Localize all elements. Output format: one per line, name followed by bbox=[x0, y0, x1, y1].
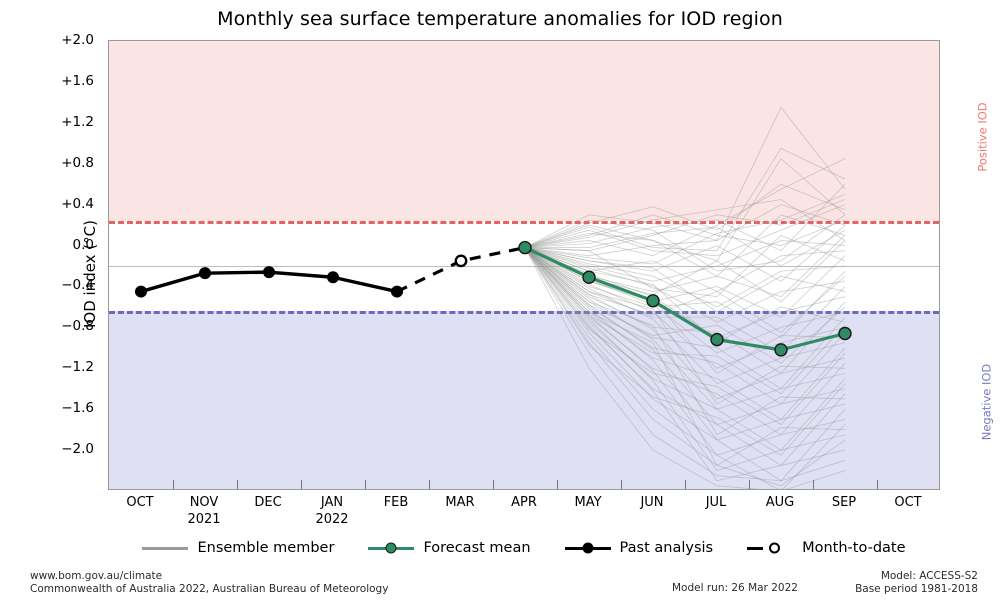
y-tick-label: +1.2 bbox=[61, 114, 94, 130]
past-analysis-marker bbox=[135, 286, 147, 298]
y-axis-title: IOD index (°C) bbox=[81, 174, 99, 374]
legend-marker bbox=[582, 543, 593, 554]
y-tick-mark bbox=[108, 368, 109, 369]
past-analysis-marker bbox=[263, 266, 275, 278]
positive-iod-label: Positive IOD bbox=[976, 102, 990, 171]
y-tick-mark bbox=[108, 123, 109, 124]
footer-copyright: Commonwealth of Australia 2022, Australi… bbox=[30, 583, 388, 596]
x-tick-label: JAN2022 bbox=[315, 494, 348, 528]
x-tick-mark bbox=[877, 480, 878, 489]
legend-swatch bbox=[747, 541, 793, 555]
y-tick-mark bbox=[108, 409, 109, 410]
x-tick-mark bbox=[365, 480, 366, 489]
chart-legend: Ensemble memberForecast meanPast analysi… bbox=[108, 534, 940, 562]
forecast-mean-marker bbox=[519, 242, 531, 254]
y-tick-mark bbox=[108, 450, 109, 451]
legend-item[interactable]: Past analysis bbox=[565, 540, 714, 556]
series-canvas bbox=[109, 41, 940, 490]
x-tick-label: JUN bbox=[640, 494, 663, 511]
x-tick-mark bbox=[173, 480, 174, 489]
forecast-mean-marker bbox=[647, 295, 659, 307]
x-tick-mark bbox=[301, 480, 302, 489]
legend-item[interactable]: Month-to-date bbox=[747, 540, 905, 556]
legend-label: Ensemble member bbox=[197, 540, 334, 556]
x-tick-label: SEP bbox=[832, 494, 856, 511]
footer-model: Model: ACCESS-S2 bbox=[855, 570, 978, 583]
plot-area bbox=[108, 40, 940, 490]
y-tick-label: +2.0 bbox=[61, 32, 94, 48]
legend-swatch bbox=[565, 541, 611, 555]
past-analysis-marker bbox=[327, 271, 339, 283]
legend-item[interactable]: Ensemble member bbox=[142, 540, 334, 556]
x-tick-mark bbox=[813, 480, 814, 489]
y-tick-mark bbox=[108, 246, 109, 247]
x-tick-label: APR bbox=[511, 494, 537, 511]
footer-model-run: Model run: 26 Mar 2022 bbox=[672, 582, 798, 595]
x-tick-label: OCT bbox=[894, 494, 921, 511]
past-analysis-marker bbox=[199, 267, 211, 279]
y-tick-mark bbox=[108, 286, 109, 287]
x-tick-mark bbox=[621, 480, 622, 489]
y-tick-label: +0.8 bbox=[61, 155, 94, 171]
x-tick-label: DEC bbox=[254, 494, 281, 511]
x-tick-label: AUG bbox=[766, 494, 794, 511]
past-analysis-marker bbox=[391, 286, 403, 298]
legend-line bbox=[142, 547, 188, 550]
forecast-mean-marker bbox=[711, 334, 723, 346]
y-tick-mark bbox=[108, 327, 109, 328]
forecast-mean-marker bbox=[583, 271, 595, 283]
y-tick-label: −2.0 bbox=[61, 441, 94, 457]
legend-label: Forecast mean bbox=[423, 540, 530, 556]
x-tick-label: NOV2021 bbox=[187, 494, 220, 528]
forecast-mean-marker bbox=[775, 344, 787, 356]
x-tick-mark bbox=[493, 480, 494, 489]
x-tick-mark bbox=[685, 480, 686, 489]
x-tick-mark bbox=[237, 480, 238, 489]
x-axis-labels: OCTNOV2021DECJAN2022FEBMARAPRMAYJUNJULAU… bbox=[108, 494, 940, 538]
negative-iod-label: Negative IOD bbox=[979, 364, 993, 441]
legend-item[interactable]: Forecast mean bbox=[368, 540, 530, 556]
x-tick-mark bbox=[749, 480, 750, 489]
legend-marker-open bbox=[769, 543, 780, 554]
x-tick-label: MAR bbox=[445, 494, 474, 511]
y-tick-label: −1.6 bbox=[61, 400, 94, 416]
ensemble-member-line bbox=[525, 148, 845, 250]
ensemble-members bbox=[525, 107, 845, 490]
page-title: Monthly sea surface temperature anomalie… bbox=[0, 8, 1000, 30]
y-tick-label: +1.6 bbox=[61, 73, 94, 89]
legend-swatch bbox=[142, 541, 188, 555]
x-tick-label: OCT bbox=[126, 494, 153, 511]
x-tick-mark bbox=[557, 480, 558, 489]
month-to-date-line bbox=[397, 248, 525, 292]
legend-line bbox=[747, 547, 763, 550]
y-tick-mark bbox=[108, 82, 109, 83]
legend-label: Past analysis bbox=[620, 540, 714, 556]
footer-right: Model: ACCESS-S2 Base period 1981-2018 bbox=[855, 570, 978, 596]
legend-marker bbox=[386, 543, 397, 554]
x-tick-label: JUL bbox=[706, 494, 727, 511]
x-tick-label: MAY bbox=[574, 494, 601, 511]
footer-base-period: Base period 1981-2018 bbox=[855, 583, 978, 596]
month-to-date-marker bbox=[456, 256, 466, 266]
footer-left: www.bom.gov.au/climate Commonwealth of A… bbox=[30, 570, 388, 596]
x-tick-mark bbox=[429, 480, 430, 489]
legend-label: Month-to-date bbox=[802, 540, 905, 556]
legend-swatch bbox=[368, 541, 414, 555]
x-tick-label: FEB bbox=[384, 494, 409, 511]
chart-root: Monthly sea surface temperature anomalie… bbox=[0, 0, 1000, 600]
y-tick-mark bbox=[108, 205, 109, 206]
y-tick-mark bbox=[108, 164, 109, 165]
footer-website: www.bom.gov.au/climate bbox=[30, 570, 388, 583]
forecast-mean-marker bbox=[839, 328, 851, 340]
